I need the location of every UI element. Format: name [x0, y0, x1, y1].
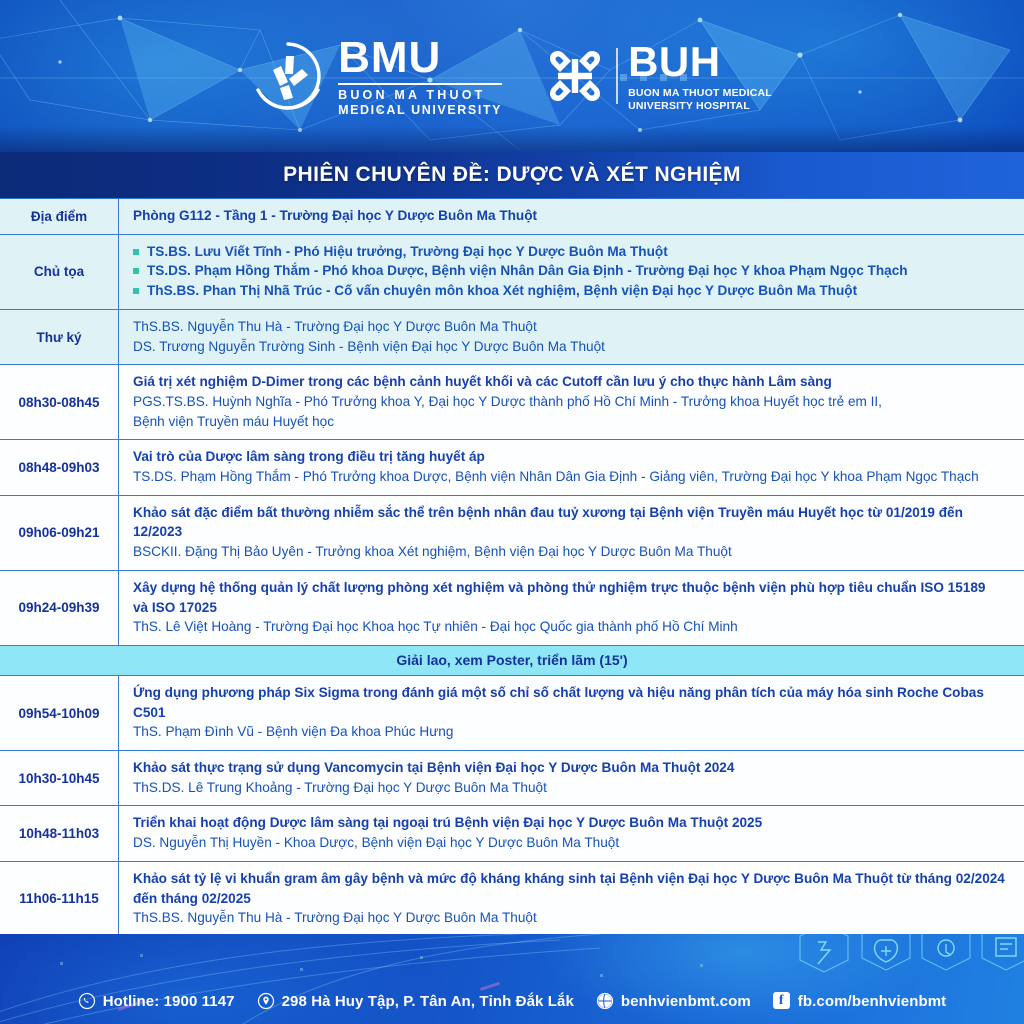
footer-item-label: benhvienbmt.com — [621, 993, 751, 1010]
row-content-cell: Khảo sát tỷ lệ vi khuẩn gram âm gây bệnh… — [119, 862, 1024, 936]
content-line: BSCKII. Đặng Thị Bảo Uyên - Trưởng khoa … — [133, 542, 1010, 562]
bullet-line: ThS.BS. Phan Thị Nhã Trúc - Cố vấn chuyê… — [133, 281, 1010, 301]
row-label-cell: Địa điểm — [0, 199, 119, 234]
buh-divider-line — [616, 48, 618, 104]
content-line: Bệnh viện Truyền máu Huyết học — [133, 412, 1010, 432]
row-content-cell: TS.BS. Lưu Viết Tĩnh - Phó Hiệu trưởng, … — [119, 235, 1024, 309]
row-time-cell: 09h06-09h21 — [0, 496, 119, 570]
break-row: Giải lao, xem Poster, triển lãm (15') — [0, 646, 1024, 676]
buh-line2: UNIVERSITY HOSPITAL — [628, 101, 772, 112]
row-content-cell: Khảo sát thực trạng sử dụng Vancomycin t… — [119, 751, 1024, 805]
row-content-cell: Phòng G112 - Tầng 1 - Trường Đại học Y D… — [119, 199, 1024, 234]
buh-wordmark: BUH BUON MA THUOT MEDICAL UNIVERSITY HOS… — [628, 41, 772, 111]
footer-item-globe[interactable]: benhvienbmt.com — [596, 992, 751, 1010]
session-row: 10h48-11h03Triển khai hoạt động Dược lâm… — [0, 806, 1024, 861]
info-row: Thư kýThS.BS. Nguyễn Thu Hà - Trường Đại… — [0, 310, 1024, 365]
row-content-cell: Ứng dụng phương pháp Six Sigma trong đán… — [119, 676, 1024, 750]
content-line: Xây dựng hệ thống quản lý chất lượng phò… — [133, 578, 1010, 598]
globe-icon — [596, 992, 614, 1010]
row-content-cell: Khảo sát đặc điểm bất thường nhiễm sắc t… — [119, 496, 1024, 570]
session-row: 10h30-10h45Khảo sát thực trạng sử dụng V… — [0, 751, 1024, 806]
row-time-cell: 09h24-09h39 — [0, 571, 119, 645]
row-time-cell: 11h06-11h15 — [0, 862, 119, 936]
poster-footer: Hotline: 1900 1147298 Hà Huy Tập, P. Tân… — [0, 934, 1024, 1024]
bullet-line: TS.DS. Phạm Hồng Thắm - Phó khoa Dược, B… — [133, 261, 1010, 281]
footer-item-label: fb.com/benhvienbmt — [798, 993, 946, 1010]
info-row: Địa điểmPhòng G112 - Tầng 1 - Trường Đại… — [0, 199, 1024, 235]
facebook-glyph: f — [773, 992, 790, 1009]
content-line: Triển khai hoạt động Dược lâm sàng tại n… — [133, 813, 1010, 833]
session-row: 11h06-11h15Khảo sát tỷ lệ vi khuẩn gram … — [0, 862, 1024, 937]
row-label-cell: Thư ký — [0, 310, 119, 364]
content-line: đến tháng 02/2025 — [133, 889, 1010, 909]
footer-contact-row: Hotline: 1900 1147298 Hà Huy Tập, P. Tân… — [0, 992, 1024, 1010]
bmu-abbr: BMU — [338, 36, 502, 80]
content-line: ThS.DS. Lê Trung Khoảng - Trường Đại học… — [133, 778, 1010, 798]
row-content-cell: Triển khai hoạt động Dược lâm sàng tại n… — [119, 806, 1024, 860]
facebook-icon: f — [773, 992, 791, 1010]
bmu-wordmark: BMU BUON MA THUOT MEDICAL UNIVERSITY — [338, 36, 502, 116]
break-label: Giải lao, xem Poster, triển lãm (15') — [396, 652, 627, 668]
content-line: DS. Nguyễn Thị Huyền - Khoa Dược, Bệnh v… — [133, 833, 1010, 853]
row-content-cell: Giá trị xét nghiệm D-Dimer trong các bện… — [119, 365, 1024, 439]
bmu-logo: BMU BUON MA THUOT MEDICAL UNIVERSITY — [252, 36, 502, 116]
session-title-banner: PHIÊN CHUYÊN ĐỀ: DƯỢC VÀ XÉT NGHIỆM — [0, 152, 1024, 198]
logo-group: BMU BUON MA THUOT MEDICAL UNIVERSITY — [0, 0, 1024, 152]
row-time-cell: 10h30-10h45 — [0, 751, 119, 805]
session-row: 09h54-10h09Ứng dụng phương pháp Six Sigm… — [0, 676, 1024, 751]
row-time-cell: 09h54-10h09 — [0, 676, 119, 750]
info-row: Chủ tọaTS.BS. Lưu Viết Tĩnh - Phó Hiệu t… — [0, 235, 1024, 310]
content-line: và ISO 17025 — [133, 598, 1010, 618]
bmu-emblem-icon — [252, 40, 324, 112]
session-row: 08h30-08h45Giá trị xét nghiệm D-Dimer tr… — [0, 365, 1024, 440]
content-line: DS. Trương Nguyễn Trường Sinh - Bệnh việ… — [133, 337, 1010, 357]
content-line: Khảo sát tỷ lệ vi khuẩn gram âm gây bệnh… — [133, 869, 1010, 889]
content-line: ThS. Phạm Đình Vũ - Bệnh viện Đa khoa Ph… — [133, 722, 1010, 742]
session-row: 09h24-09h39Xây dựng hệ thống quản lý chấ… — [0, 571, 1024, 646]
row-time-cell: 08h48-09h03 — [0, 440, 119, 494]
content-line: ThS.BS. Nguyễn Thu Hà - Trường Đại học Y… — [133, 317, 1010, 337]
bullet-line: TS.BS. Lưu Viết Tĩnh - Phó Hiệu trưởng, … — [133, 242, 1010, 262]
footer-item-facebook[interactable]: ffb.com/benhvienbmt — [773, 992, 946, 1010]
bmu-line1: BUON MA THUOT — [338, 89, 502, 102]
footer-item-label: Hotline: 1900 1147 — [103, 993, 235, 1010]
footer-item-location[interactable]: 298 Hà Huy Tập, P. Tân An, Tỉnh Đắk Lắk — [257, 992, 574, 1010]
session-title: PHIÊN CHUYÊN ĐỀ: DƯỢC VÀ XÉT NGHIỆM — [283, 163, 741, 187]
row-content-cell: Vai trò của Dược lâm sàng trong điều trị… — [119, 440, 1024, 494]
buh-logo: BUH BUON MA THUOT MEDICAL UNIVERSITY HOS… — [544, 41, 772, 111]
location-icon — [257, 992, 275, 1010]
content-line: Khảo sát đặc điểm bất thường nhiễm sắc t… — [133, 503, 1010, 542]
content-line: Vai trò của Dược lâm sàng trong điều trị… — [133, 447, 1010, 467]
footer-item-phone[interactable]: Hotline: 1900 1147 — [78, 992, 235, 1010]
content-line: TS.DS. Phạm Hồng Thắm - Phó Trưởng khoa … — [133, 467, 1010, 487]
buh-abbr: BUH — [628, 41, 772, 83]
row-content-cell: ThS.BS. Nguyễn Thu Hà - Trường Đại học Y… — [119, 310, 1024, 364]
row-time-cell: 08h30-08h45 — [0, 365, 119, 439]
row-time-cell: 10h48-11h03 — [0, 806, 119, 860]
buh-line1: BUON MA THUOT MEDICAL — [628, 88, 772, 99]
content-line: Khảo sát thực trạng sử dụng Vancomycin t… — [133, 758, 1010, 778]
footer-item-label: 298 Hà Huy Tập, P. Tân An, Tỉnh Đắk Lắk — [282, 993, 574, 1010]
content-line: Ứng dụng phương pháp Six Sigma trong đán… — [133, 683, 1010, 722]
phone-icon — [78, 992, 96, 1010]
session-row: 09h06-09h21Khảo sát đặc điểm bất thường … — [0, 496, 1024, 571]
content-line: Giá trị xét nghiệm D-Dimer trong các bện… — [133, 372, 1010, 392]
footer-decoration-graphic — [0, 934, 1024, 1024]
session-row: 08h48-09h03Vai trò của Dược lâm sàng tro… — [0, 440, 1024, 495]
content-line: ThS.BS. Nguyễn Thu Hà - Trường Đại học Y… — [133, 908, 1010, 928]
bmu-line2: MEDICAL UNIVERSITY — [338, 104, 502, 117]
row-label-cell: Chủ tọa — [0, 235, 119, 309]
poster-page: BMU BUON MA THUOT MEDICAL UNIVERSITY — [0, 0, 1024, 1024]
bmu-divider-line — [338, 83, 502, 85]
content-line: PGS.TS.BS. Huỳnh Nghĩa - Phó Trưởng khoa… — [133, 392, 1010, 412]
poster-header: BMU BUON MA THUOT MEDICAL UNIVERSITY — [0, 0, 1024, 152]
schedule-table: Địa điểmPhòng G112 - Tầng 1 - Trường Đại… — [0, 198, 1024, 967]
row-content-cell: Xây dựng hệ thống quản lý chất lượng phò… — [119, 571, 1024, 645]
content-line: ThS. Lê Việt Hoàng - Trường Đại học Khoa… — [133, 617, 1010, 637]
content-line: Phòng G112 - Tầng 1 - Trường Đại học Y D… — [133, 206, 1010, 226]
buh-emblem-icon — [544, 45, 606, 107]
